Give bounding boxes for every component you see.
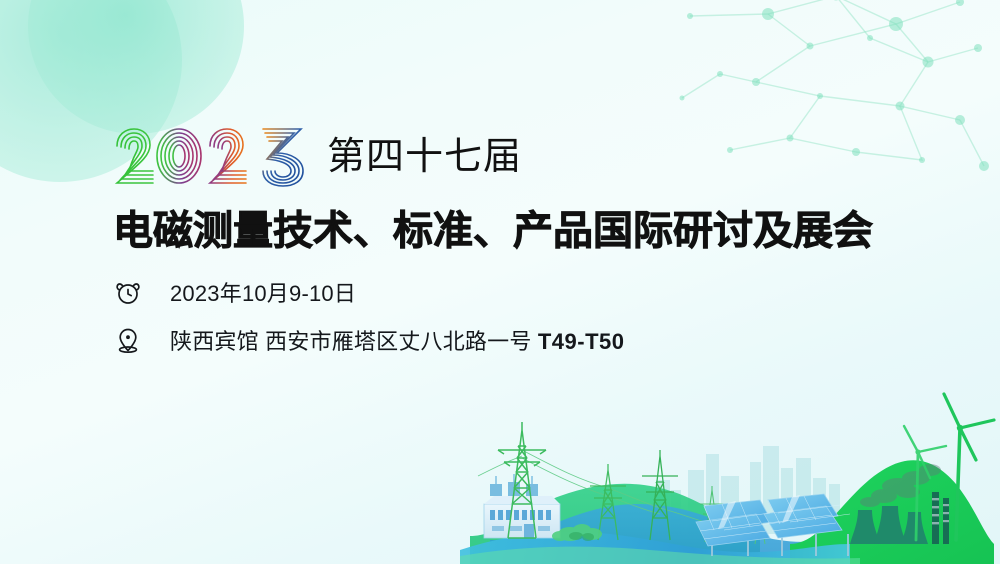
substation-building: [484, 474, 560, 538]
banner-content: 第四十七届 电磁测量技术、标准、产品国际研讨及展会 2023年10月9-10日: [113, 126, 933, 357]
date-row: 2023年10月9-10日: [113, 275, 933, 309]
alarm-clock-icon: [113, 277, 143, 307]
location-text: 陕西宾馆 西安市雁塔区丈八北路一号 T49-T50: [170, 324, 624, 356]
edition-label: 第四十七届: [327, 138, 522, 176]
event-banner: 第四十七届 电磁测量技术、标准、产品国际研讨及展会 2023年10月9-10日: [0, 0, 1000, 564]
map-pin-icon: [113, 325, 143, 355]
venue-name: 陕西宾馆 西安市雁塔区丈八北路一号: [170, 329, 532, 354]
location-row: 陕西宾馆 西安市雁塔区丈八北路一号 T49-T50: [113, 323, 933, 357]
page-title: 电磁测量技术、标准、产品国际研讨及展会: [113, 208, 933, 255]
energy-landscape-illustration: [460, 384, 1000, 564]
year-logo-2023: [113, 126, 309, 188]
date-text: 2023年10月9-10日: [170, 276, 356, 308]
logo-row: 第四十七届: [113, 126, 933, 188]
booth-number: T49-T50: [538, 329, 625, 354]
